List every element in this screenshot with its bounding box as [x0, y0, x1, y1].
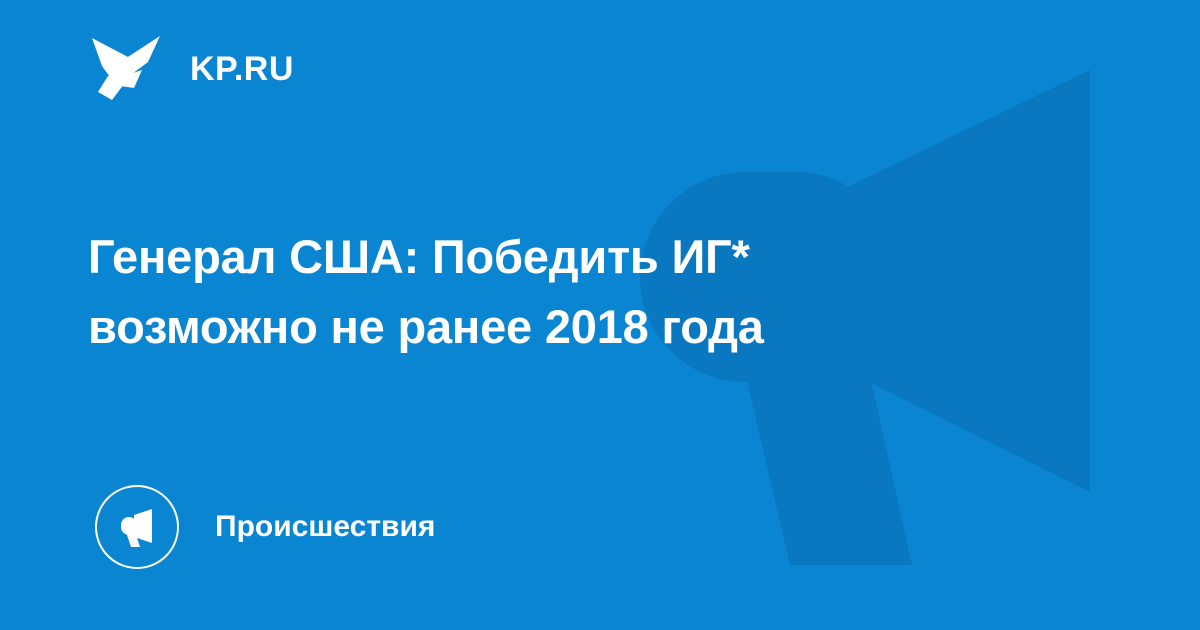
megaphone-icon — [95, 485, 179, 569]
headline: Генерал США: Победить ИГ* возможно не ра… — [88, 222, 988, 362]
category-badge[interactable]: Происшествия — [95, 484, 435, 570]
headline-line-1: Генерал США: Победить ИГ* — [88, 222, 988, 292]
category-label: Происшествия — [215, 512, 435, 542]
share-card: KP.RU Генерал США: Победить ИГ* возможно… — [0, 0, 1200, 630]
brand-logo[interactable]: KP.RU — [90, 38, 294, 100]
swallow-bird-icon — [90, 36, 164, 102]
headline-line-2: возможно не ранее 2018 года — [88, 292, 988, 362]
brand-name: KP.RU — [190, 52, 294, 86]
